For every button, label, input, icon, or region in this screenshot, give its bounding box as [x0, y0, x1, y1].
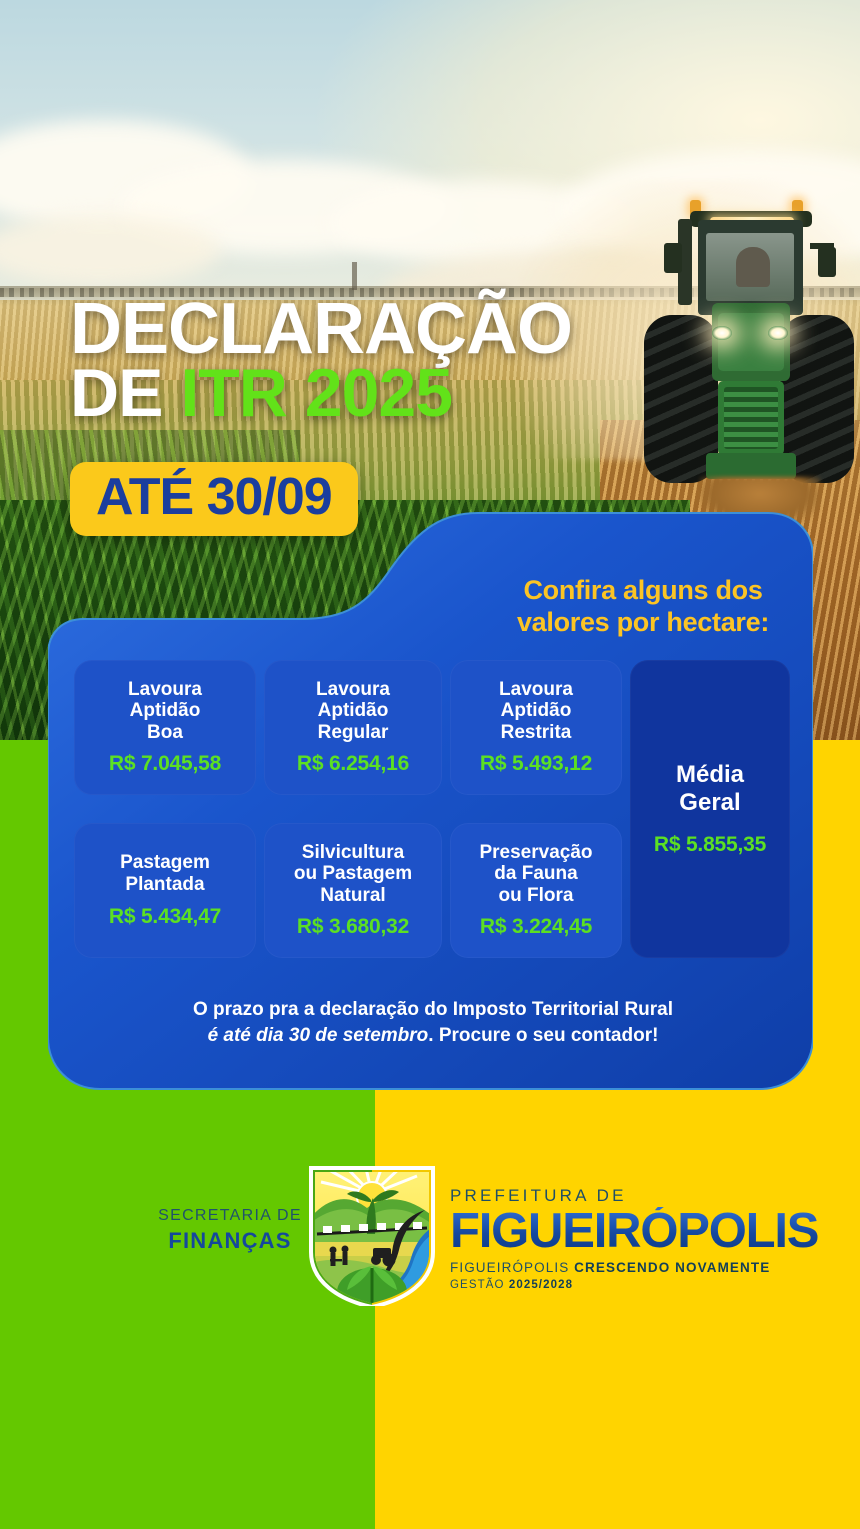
- tile-label: MédiaGeral: [676, 761, 744, 818]
- driver-silhouette: [736, 247, 770, 287]
- headlight: [768, 326, 788, 340]
- tile-label: PastagemPlantada: [120, 852, 210, 895]
- tile-value: R$ 5.493,12: [480, 752, 592, 776]
- deadline-note: O prazo pra a declaração do Imposto Terr…: [88, 997, 778, 1048]
- value-tile-lavoura-aptidao-regular: LavouraAptidãoRegular R$ 6.254,16: [264, 660, 442, 795]
- tile-label: Silviculturaou PastagemNatural: [294, 842, 412, 907]
- value-tile-lavoura-aptidao-restrita: LavouraAptidãoRestrita R$ 5.493,12: [450, 660, 622, 795]
- tile-label: LavouraAptidãoRestrita: [499, 679, 573, 744]
- headlight: [712, 326, 732, 340]
- value-tile-pastagem-plantada: PastagemPlantada R$ 5.434,47: [74, 823, 256, 958]
- title-line-1: DECLARAÇÃO: [70, 296, 572, 362]
- value-tile-media-geral: MédiaGeral R$ 5.855,35: [630, 660, 790, 958]
- value-tile-silvicultura-pastagem-natural: Silviculturaou PastagemNatural R$ 3.680,…: [264, 823, 442, 958]
- slogan: FIGUEIRÓPOLIS CRESCENDO NOVAMENTE: [450, 1260, 818, 1275]
- title-de: DE: [70, 355, 180, 431]
- tractor-hood-top: [718, 313, 784, 371]
- tractor-icon: [640, 195, 855, 525]
- note-emphasis: é até dia 30 de setembro: [208, 1025, 429, 1046]
- tile-value: R$ 3.680,32: [297, 915, 409, 939]
- note-line-1: O prazo pra a declaração do Imposto Terr…: [193, 999, 673, 1020]
- front-bumper: [706, 453, 796, 479]
- tile-label: LavouraAptidãoBoa: [128, 679, 202, 744]
- tile-value: R$ 6.254,16: [297, 752, 409, 776]
- silo-chimney: [352, 262, 357, 290]
- city-name: FIGUEIRÓPOLIS: [450, 1207, 818, 1255]
- tile-value: R$ 7.045,58: [109, 752, 221, 776]
- side-mirror: [664, 243, 682, 273]
- side-mirror: [818, 247, 836, 277]
- tile-value: R$ 5.434,47: [109, 905, 221, 929]
- secretaria-line-1: SECRETARIA DE: [150, 1205, 310, 1227]
- gestao: GESTÃO 2025/2028: [450, 1279, 818, 1291]
- tile-label: Preservaçãoda Faunaou Flora: [479, 842, 592, 907]
- gestao-label: GESTÃO: [450, 1279, 509, 1291]
- value-tile-lavoura-aptidao-boa: LavouraAptidãoBoa R$ 7.045,58: [74, 660, 256, 795]
- card-title: Confira alguns dos valores por hectare:: [478, 575, 808, 639]
- page-title: DECLARAÇÃO DE ITR 2025: [70, 296, 572, 425]
- tile-value: R$ 5.855,35: [654, 833, 766, 857]
- value-tile-preservacao-fauna-flora: Preservaçãoda Faunaou Flora R$ 3.224,45: [450, 823, 622, 958]
- slogan-city: FIGUEIRÓPOLIS: [450, 1260, 574, 1275]
- front-grille: [718, 381, 784, 455]
- secretaria-block: SECRETARIA DE FINANÇAS: [150, 1205, 310, 1255]
- values-card: Confira alguns dos valores por hectare: …: [48, 505, 813, 1095]
- tile-value: R$ 3.224,45: [480, 915, 592, 939]
- title-line-2: DE ITR 2025: [70, 362, 572, 425]
- secretaria-line-2: FINANÇAS: [150, 1227, 310, 1255]
- gestao-years: 2025/2028: [509, 1279, 573, 1291]
- figueiropolis-coat-of-arms-icon: [307, 1164, 437, 1306]
- poster-root: DECLARAÇÃO DE ITR 2025 ATÉ 30/09 Confira…: [0, 0, 860, 1529]
- slogan-bold: CRESCENDO NOVAMENTE: [574, 1260, 770, 1275]
- prefeitura-logo: PREFEITURA DE FIGUEIRÓPOLIS FIGUEIRÓPOLI…: [450, 1186, 818, 1291]
- title-itr-2025: ITR 2025: [180, 355, 452, 431]
- note-tail: . Procure o seu contador!: [428, 1025, 658, 1046]
- tile-label: LavouraAptidãoRegular: [316, 679, 390, 744]
